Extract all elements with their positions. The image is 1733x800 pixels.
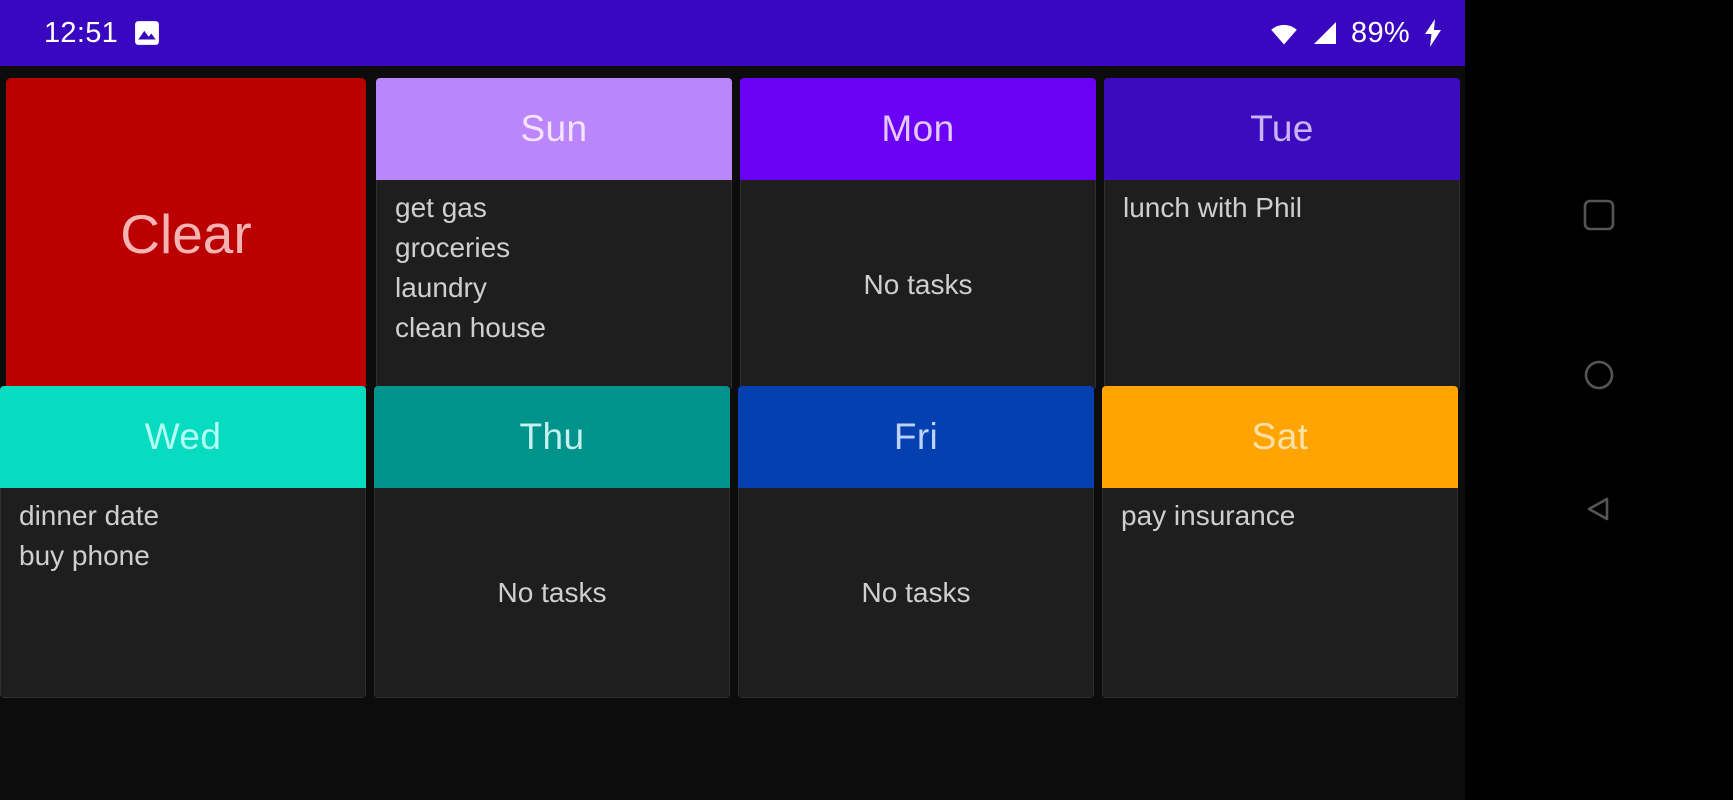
no-tasks-label: No tasks <box>739 577 1093 609</box>
day-header-fri[interactable]: Fri <box>738 386 1094 488</box>
charging-bolt-icon <box>1423 19 1443 47</box>
circle-icon <box>1582 358 1616 392</box>
day-cell-fri: Fri No tasks <box>738 386 1094 698</box>
day-name-sun: Sun <box>520 108 587 150</box>
task-item[interactable]: pay insurance <box>1121 496 1457 536</box>
status-bar-right: 89% <box>1269 17 1443 50</box>
task-item[interactable]: get gas <box>395 188 731 228</box>
day-cell-tue: Tue lunch with Phil <box>1104 78 1460 390</box>
day-card-tue[interactable]: Tue lunch with Phil <box>1104 78 1460 390</box>
square-icon <box>1582 198 1616 232</box>
signal-icon <box>1312 20 1338 46</box>
grid-row-top: Clear Sun get gas groceries laundry clea… <box>0 78 1465 390</box>
day-cell-thu: Thu No tasks <box>374 386 730 698</box>
task-list-sat[interactable]: pay insurance <box>1102 488 1458 698</box>
task-item[interactable]: buy phone <box>19 536 365 576</box>
task-item[interactable]: groceries <box>395 228 731 268</box>
task-item[interactable]: clean house <box>395 308 731 348</box>
task-list-wed[interactable]: dinner date buy phone <box>0 488 366 698</box>
no-tasks-label: No tasks <box>741 269 1095 301</box>
day-card-sun[interactable]: Sun get gas groceries laundry clean hous… <box>376 78 732 390</box>
status-bar: 12:51 89% <box>0 0 1465 66</box>
task-list-sun[interactable]: get gas groceries laundry clean house <box>376 180 732 390</box>
day-cell-sat: Sat pay insurance <box>1102 386 1458 698</box>
task-list-thu[interactable]: No tasks <box>374 488 730 698</box>
day-cell-sun: Sun get gas groceries laundry clean hous… <box>376 78 732 390</box>
day-cell-mon: Mon No tasks <box>740 78 1096 390</box>
day-header-thu[interactable]: Thu <box>374 386 730 488</box>
status-clock: 12:51 <box>44 17 118 50</box>
grid-row-bottom: Wed dinner date buy phone Thu No tasks <box>0 386 1465 698</box>
day-header-sat[interactable]: Sat <box>1102 386 1458 488</box>
task-item[interactable]: laundry <box>395 268 731 308</box>
recents-button[interactable] <box>1465 178 1733 252</box>
phone-viewport: 12:51 89% <box>0 0 1465 800</box>
day-name-wed: Wed <box>145 416 222 458</box>
day-name-fri: Fri <box>894 416 938 458</box>
day-name-sat: Sat <box>1252 416 1309 458</box>
battery-percentage: 89% <box>1351 17 1410 50</box>
week-grid: Clear Sun get gas groceries laundry clea… <box>0 66 1465 800</box>
photo-icon <box>134 20 160 46</box>
day-name-thu: Thu <box>520 416 585 458</box>
day-cell-wed: Wed dinner date buy phone <box>0 386 366 698</box>
clear-cell: Clear <box>6 78 366 390</box>
day-name-mon: Mon <box>881 108 954 150</box>
day-card-mon[interactable]: Mon No tasks <box>740 78 1096 390</box>
task-list-tue[interactable]: lunch with Phil <box>1104 180 1460 390</box>
task-item[interactable]: dinner date <box>19 496 365 536</box>
triangle-back-icon <box>1582 492 1616 526</box>
no-tasks-label: No tasks <box>375 577 729 609</box>
day-card-fri[interactable]: Fri No tasks <box>738 386 1094 698</box>
day-card-wed[interactable]: Wed dinner date buy phone <box>0 386 366 698</box>
back-button[interactable] <box>1465 472 1733 546</box>
day-header-mon[interactable]: Mon <box>740 78 1096 180</box>
wifi-icon <box>1269 20 1299 46</box>
day-card-thu[interactable]: Thu No tasks <box>374 386 730 698</box>
day-header-wed[interactable]: Wed <box>0 386 366 488</box>
navigation-bar <box>1465 0 1733 800</box>
day-header-tue[interactable]: Tue <box>1104 78 1460 180</box>
clear-button[interactable]: Clear <box>6 78 366 390</box>
day-name-tue: Tue <box>1250 108 1314 150</box>
task-list-mon[interactable]: No tasks <box>740 180 1096 390</box>
task-list-fri[interactable]: No tasks <box>738 488 1094 698</box>
status-bar-left: 12:51 <box>44 17 160 50</box>
day-card-sat[interactable]: Sat pay insurance <box>1102 386 1458 698</box>
day-header-sun[interactable]: Sun <box>376 78 732 180</box>
home-button[interactable] <box>1465 338 1733 412</box>
task-item[interactable]: lunch with Phil <box>1123 188 1459 228</box>
